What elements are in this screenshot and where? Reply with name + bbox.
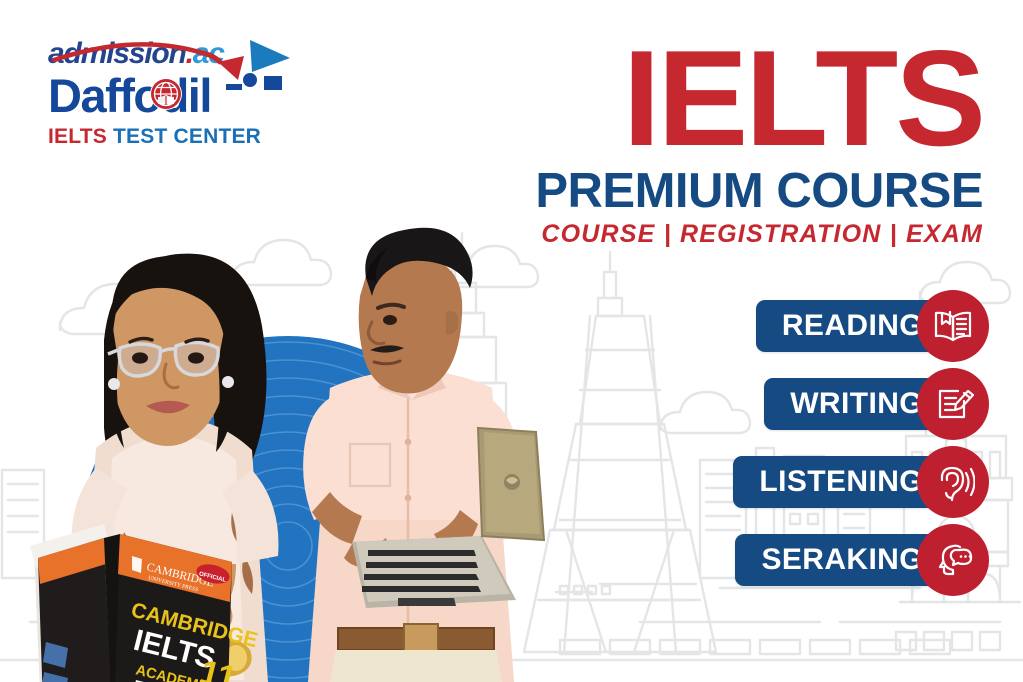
skill-item-reading[interactable]: READING bbox=[733, 300, 975, 352]
cambridge-ielts-book: CAMBRIDGE UNIVERSITY PRESS OFFICIAL CAMB… bbox=[30, 524, 260, 682]
svg-text:ACADEMIC: ACADEMIC bbox=[134, 662, 214, 682]
student-man-laptop bbox=[303, 228, 521, 682]
logo-sub-testcenter: TEST CENTER bbox=[113, 125, 261, 148]
cloud-icon bbox=[60, 284, 168, 334]
svg-text:11: 11 bbox=[196, 653, 240, 682]
skill-item-listening[interactable]: LISTENING bbox=[733, 456, 975, 508]
logo-triangles bbox=[218, 32, 298, 90]
student-woman-reading bbox=[72, 254, 279, 682]
headline-tagline: COURSE | REGISTRATION | EXAM bbox=[463, 219, 983, 249]
street-base-line bbox=[0, 584, 1023, 660]
eiffel-tower-icon bbox=[524, 252, 716, 652]
headline-block: IELTS PREMIUM COURSE COURSE | REGISTRATI… bbox=[463, 36, 983, 249]
brand-logo[interactable]: admission.ac Daffodil bbox=[48, 38, 298, 150]
speech-head-icon[interactable] bbox=[917, 524, 989, 596]
poster-canvas: CAMBRIDGE UNIVERSITY PRESS OFFICIAL CAMB… bbox=[0, 0, 1023, 682]
logo-subtitle: IELTS TEST CENTER bbox=[48, 124, 298, 150]
headline-subtitle: PREMIUM COURSE bbox=[463, 164, 983, 218]
svg-text:CAMBRIDGE: CAMBRIDGE bbox=[145, 561, 215, 589]
skills-list: READING WRITING bbox=[733, 300, 975, 586]
cloud-icon bbox=[448, 246, 538, 287]
skill-item-seraking[interactable]: SERAKING bbox=[733, 534, 975, 586]
empire-state-building-icon bbox=[410, 233, 514, 523]
skill-item-writing[interactable]: WRITING bbox=[733, 378, 975, 430]
statue-of-liberty-icon bbox=[100, 369, 220, 648]
triangle-blue-icon bbox=[250, 40, 290, 72]
globe-book-icon bbox=[149, 77, 183, 111]
logo-admission-row: admission.ac bbox=[48, 38, 298, 72]
cloud-icon bbox=[232, 240, 331, 285]
triangle-red-icon bbox=[218, 56, 244, 80]
svg-text:CAMBRIDGE: CAMBRIDGE bbox=[129, 599, 260, 653]
open-book-icon[interactable] bbox=[917, 290, 989, 362]
blue-circle-backdrop bbox=[38, 296, 538, 682]
ear-sound-icon[interactable] bbox=[917, 446, 989, 518]
svg-text:OFFICIAL: OFFICIAL bbox=[198, 571, 227, 584]
laptop-device bbox=[352, 428, 544, 608]
page-title: IELTS bbox=[463, 36, 983, 160]
pencil-paper-icon[interactable] bbox=[917, 368, 989, 440]
svg-text:IELTS: IELTS bbox=[130, 624, 218, 676]
logo-sub-ielts: IELTS bbox=[48, 125, 107, 148]
students-photo: CAMBRIDGE UNIVERSITY PRESS OFFICIAL CAMB… bbox=[0, 212, 620, 682]
svg-text:UNIVERSITY PRESS: UNIVERSITY PRESS bbox=[148, 575, 199, 593]
